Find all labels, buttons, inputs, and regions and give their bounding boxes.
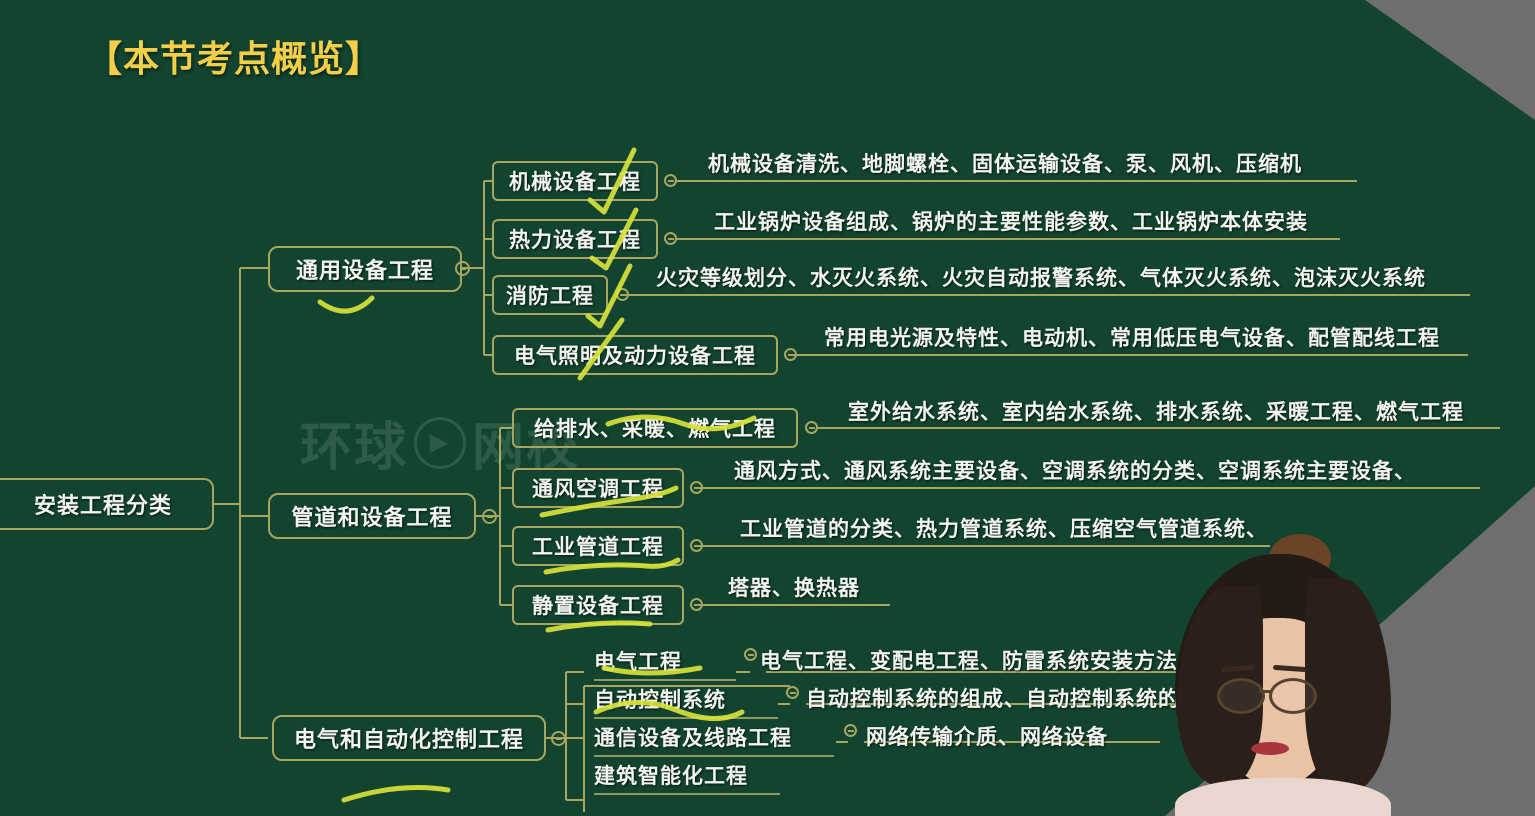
detail-text-communication-line: 网络传输介质、网络设备 xyxy=(866,721,1108,754)
child-node-automatic-control[interactable]: 自动控制系统 xyxy=(594,684,778,719)
child-label: 静置设备工程 xyxy=(532,590,664,620)
child-node-hvac[interactable]: 通风空调工程 xyxy=(512,468,684,508)
child-label: 热力设备工程 xyxy=(509,224,641,254)
detail-text-electrical-engineering: 电气工程、变配电工程、防雷系统安装方法及要 xyxy=(760,645,1222,678)
child-label: 通风空调工程 xyxy=(532,473,664,503)
child-label: 电气工程 xyxy=(594,651,682,674)
child-node-industrial-piping[interactable]: 工业管道工程 xyxy=(512,526,684,566)
child-node-water-heating-gas[interactable]: 给排水、采暖、燃气工程 xyxy=(512,408,798,448)
collapse-toggle-1-3[interactable] xyxy=(616,288,629,301)
page-title: 【本节考点概览】 xyxy=(86,30,382,82)
detail-text-fire-protection: 火灾等级划分、水灭火系统、火灾自动报警系统、气体灭火系统、泡沫灭火系统 xyxy=(656,262,1426,295)
collapse-toggle-1-2[interactable] xyxy=(664,232,677,245)
child-label: 自动控制系统 xyxy=(594,689,726,712)
collapse-toggle-branch-2[interactable] xyxy=(482,509,497,524)
branch-node-piping-equipment[interactable]: 管道和设备工程 xyxy=(268,493,476,539)
detail-text-electrical-lighting-power: 常用电光源及特性、电动机、常用低压电气设备、配管配线工程 xyxy=(824,322,1440,355)
child-label: 机械设备工程 xyxy=(509,166,641,196)
child-node-fire-protection[interactable]: 消防工程 xyxy=(492,275,608,315)
child-label: 消防工程 xyxy=(506,280,594,310)
collapse-toggle-2-1[interactable] xyxy=(805,421,818,434)
child-node-mechanical-equipment[interactable]: 机械设备工程 xyxy=(492,161,658,201)
presenter-hair-right xyxy=(1305,578,1391,793)
child-label: 电气照明及动力设备工程 xyxy=(514,340,756,370)
branch-label: 管道和设备工程 xyxy=(291,500,452,532)
branch-label: 电气和自动化控制工程 xyxy=(294,722,524,754)
collapse-toggle-1-1[interactable] xyxy=(664,174,677,187)
mindmap-root-label: 安装工程分类 xyxy=(34,488,172,520)
branch-label: 通用设备工程 xyxy=(296,253,434,285)
detail-text-water-heating-gas: 室外给水系统、室内给水系统、排水系统、采暖工程、燃气工程 xyxy=(848,396,1464,429)
collapse-toggle-branch-1[interactable] xyxy=(455,261,470,276)
collapse-toggle-1-4[interactable] xyxy=(784,348,797,361)
branch-node-general-equipment[interactable]: 通用设备工程 xyxy=(268,246,462,292)
collapse-toggle-2-4[interactable] xyxy=(690,598,703,611)
child-node-communication-line[interactable]: 通信设备及线路工程 xyxy=(594,722,834,757)
collapse-toggle-3-3[interactable] xyxy=(844,724,857,737)
collapse-toggle-branch-3[interactable] xyxy=(551,731,566,746)
child-node-thermal-equipment[interactable]: 热力设备工程 xyxy=(492,219,658,259)
collapse-toggle-3-1[interactable] xyxy=(744,648,757,661)
child-label: 工业管道工程 xyxy=(532,531,664,561)
presenter-lips xyxy=(1251,742,1289,755)
slide-canvas: 【本节考点概览】 环球 ▶ 网校 安装工程分类 通用设备工程 机械设备工程 机械… xyxy=(0,0,1535,816)
child-label: 给排水、采暖、燃气工程 xyxy=(534,413,776,443)
glasses-lens-right-icon xyxy=(1269,678,1317,714)
collapse-toggle-2-2[interactable] xyxy=(690,481,703,494)
mindmap-root-node[interactable]: 安装工程分类 xyxy=(0,478,214,530)
branch-node-electrical-automation[interactable]: 电气和自动化控制工程 xyxy=(272,715,546,761)
glasses-bridge-icon xyxy=(1259,690,1271,693)
child-node-building-intelligence[interactable]: 建筑智能化工程 xyxy=(594,760,780,795)
detail-text-thermal-equipment: 工业锅炉设备组成、锅炉的主要性能参数、工业锅炉本体安装 xyxy=(714,206,1308,239)
child-node-static-equipment[interactable]: 静置设备工程 xyxy=(512,585,684,625)
presenter-video-overlay xyxy=(1165,526,1395,816)
child-label: 通信设备及线路工程 xyxy=(594,727,792,750)
detail-text-hvac: 通风方式、通风系统主要设备、空调系统的分类、空调系统主要设备、 xyxy=(734,455,1416,488)
child-node-electrical-lighting-power[interactable]: 电气照明及动力设备工程 xyxy=(492,335,778,375)
collapse-toggle-2-3[interactable] xyxy=(690,539,703,552)
glasses-lens-left-icon xyxy=(1217,678,1265,714)
child-label: 建筑智能化工程 xyxy=(594,765,748,788)
detail-text-automatic-control: 自动控制系统的组成、自动控制系统的常用 xyxy=(806,683,1224,716)
detail-text-static-equipment: 塔器、换热器 xyxy=(728,572,860,605)
child-node-electrical-engineering[interactable]: 电气工程 xyxy=(594,646,736,681)
collapse-toggle-3-2[interactable] xyxy=(786,686,799,699)
detail-text-mechanical-equipment: 机械设备清洗、地脚螺栓、固体运输设备、泵、风机、压缩机 xyxy=(708,148,1302,181)
